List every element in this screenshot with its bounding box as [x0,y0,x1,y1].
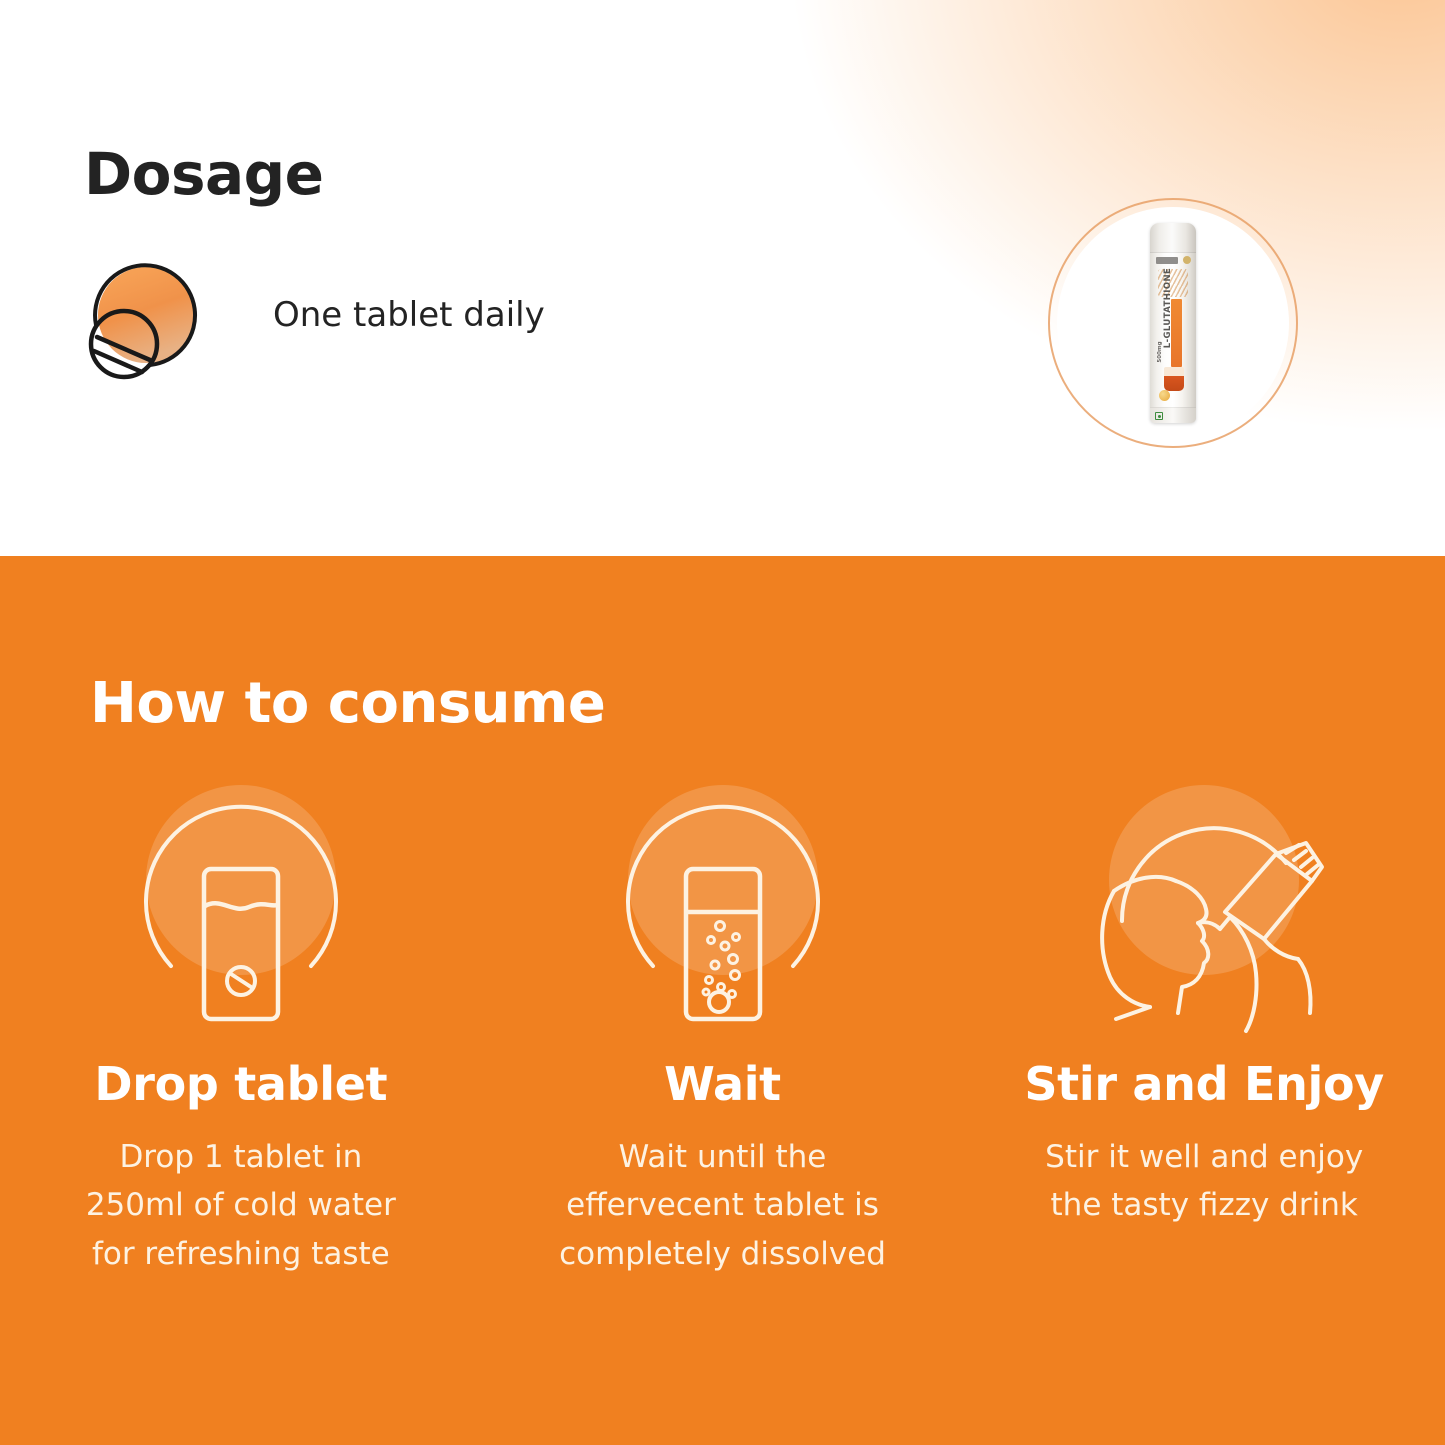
tube-glass-art [1164,367,1184,391]
step-description: Wait until the effervecent tablet is com… [559,1133,886,1278]
tube-foot [1150,407,1196,423]
step-desc-line: the tasty fizzy drink [1045,1181,1363,1229]
how-to-consume-heading: How to consume [90,671,605,736]
step-desc-line: Stir it well and enjoy [1045,1133,1363,1181]
tube-product-name: L-GLUTATHIONE [1163,248,1173,368]
product-circle-disc: L-GLUTATHIONE 500mg [1057,207,1289,439]
steps-list: Drop tablet Drop 1 tablet in 250ml of co… [0,781,1445,1278]
dosage-section: Dosage O [0,0,1445,556]
how-to-consume-section: How to consume Drop tablet Drop 1 ta [0,556,1445,1445]
step-desc-line: for refreshing taste [86,1230,396,1278]
step-desc-line: effervecent tablet is [559,1181,886,1229]
step-item: Wait Wait until the effervecent tablet i… [482,781,964,1278]
tablet-circle-icon [80,255,210,385]
person-drinking-icon [1054,781,1354,1051]
product-tube-image: L-GLUTATHIONE 500mg [1048,198,1298,448]
step-item: Drop tablet Drop 1 tablet in 250ml of co… [0,781,482,1278]
step-desc-line: Wait until the [559,1133,886,1181]
step-title: Wait [664,1057,781,1111]
tube-badge-icon [1183,256,1191,264]
tube-strength: 500mg [1157,324,1163,380]
step-description: Drop 1 tablet in 250ml of cold water for… [86,1133,396,1278]
step-description: Stir it well and enjoy the tasty fizzy d… [1045,1133,1363,1230]
glass-with-tablet-icon [91,781,391,1051]
veg-mark-icon [1155,412,1163,420]
step-icon-area [1054,781,1354,1051]
dosage-heading: Dosage [84,140,324,208]
tube-fruit-art [1159,390,1170,401]
step-icon-area [573,781,873,1051]
glass-with-bubbles-icon [573,781,873,1051]
step-desc-line: Drop 1 tablet in [86,1133,396,1181]
tube-cap [1150,223,1196,253]
step-item: Stir and Enjoy Stir it well and enjoy th… [963,781,1445,1278]
step-title: Drop tablet [94,1057,387,1111]
tube-body: L-GLUTATHIONE 500mg [1150,223,1196,423]
step-desc-line: 250ml of cold water [86,1181,396,1229]
step-icon-area [91,781,391,1051]
infographic-page: Dosage O [0,0,1445,1445]
step-desc-line: completely dissolved [559,1230,886,1278]
product-tube: L-GLUTATHIONE 500mg [1150,223,1196,423]
dosage-description: One tablet daily [273,295,545,335]
step-title: Stir and Enjoy [1024,1057,1384,1111]
